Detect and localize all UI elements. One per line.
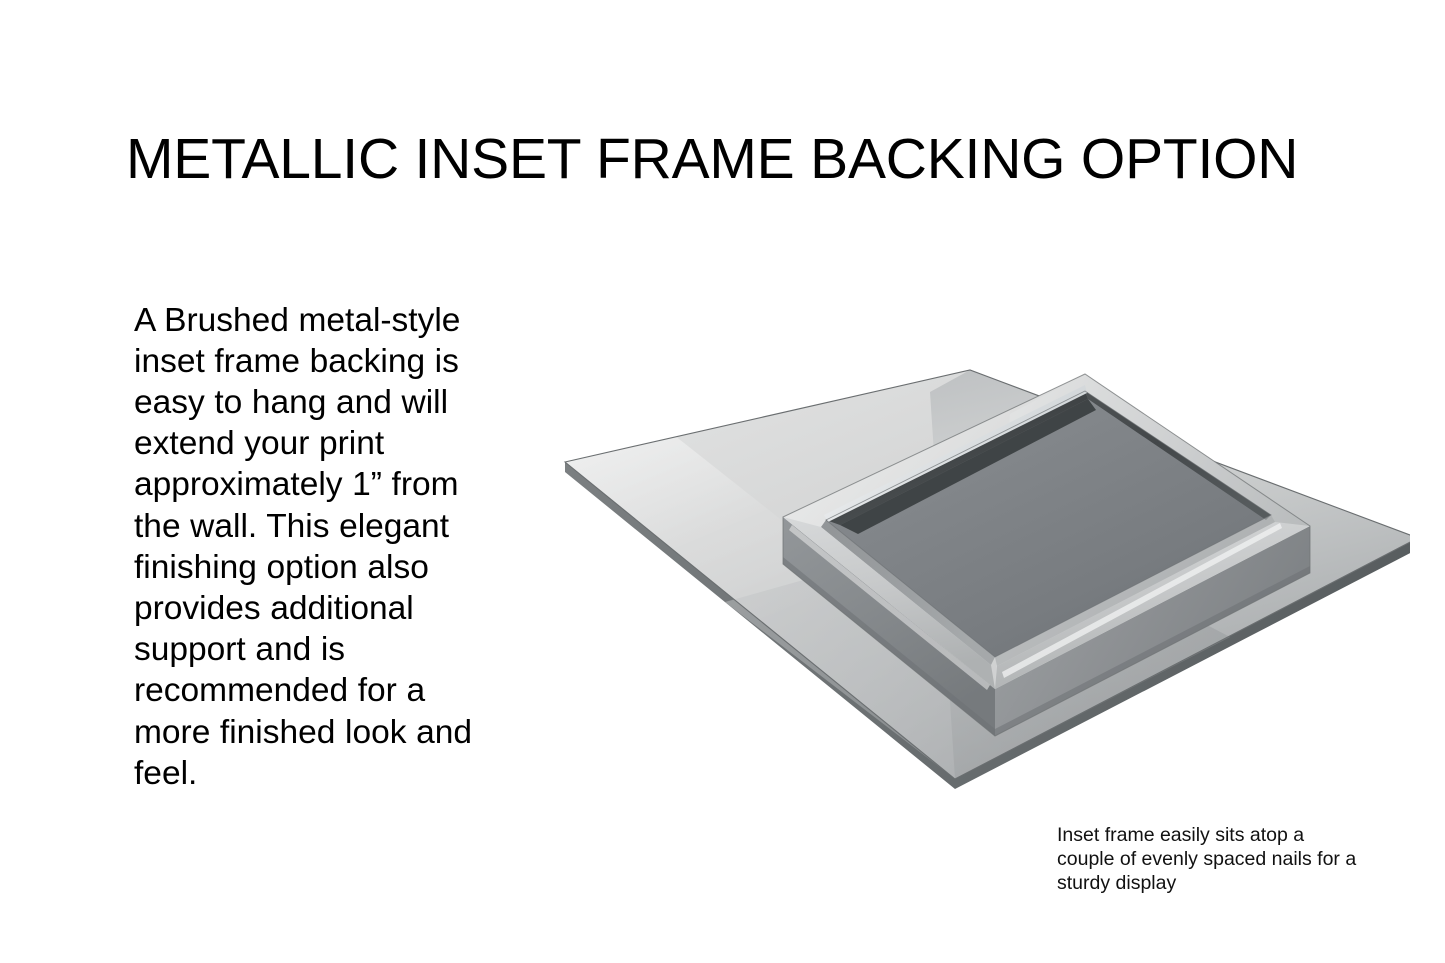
metallic-inset-frame-illustration	[540, 352, 1410, 802]
slide-canvas: METALLIC INSET FRAME BACKING OPTION A Br…	[0, 0, 1445, 963]
product-image	[540, 352, 1410, 802]
figure-caption: Inset frame easily sits atop a couple of…	[1057, 823, 1357, 896]
body-paragraph: A Brushed metal-style inset frame backin…	[134, 300, 486, 794]
page-title: METALLIC INSET FRAME BACKING OPTION	[126, 126, 1298, 192]
